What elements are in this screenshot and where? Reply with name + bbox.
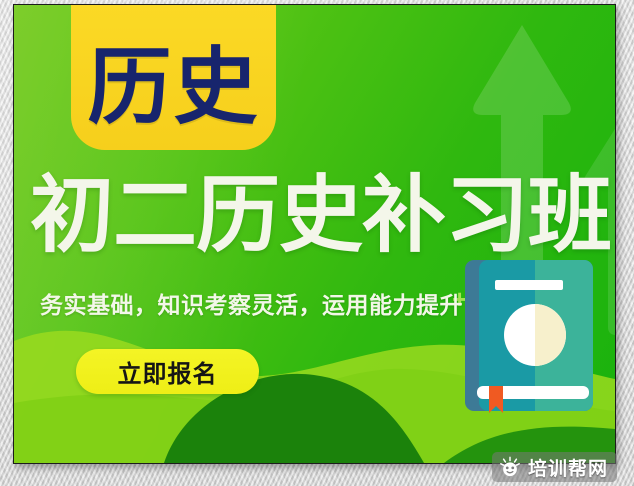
poster-canvas: + 历史 初二历史补习班 务实基础，知识考察灵活，运用能力提升 立即报名: [0, 0, 634, 486]
subject-badge-label: 历史: [71, 5, 276, 150]
enroll-button[interactable]: 立即报名: [76, 349, 259, 394]
poster-card: + 历史 初二历史补习班 务实基础，知识考察灵活，运用能力提升 立即报名: [13, 4, 616, 464]
page-subtitle: 务实基础，知识考察灵活，运用能力提升: [40, 286, 463, 320]
page-title: 初二历史补习班: [30, 173, 605, 257]
subject-badge: 历史: [71, 5, 276, 150]
site-watermark: 培训帮网: [492, 452, 617, 482]
enroll-button-label: 立即报名: [118, 354, 218, 389]
site-watermark-label: 培训帮网: [528, 454, 608, 481]
sun-face-icon: [499, 456, 521, 478]
textbook-illustration: [463, 258, 595, 413]
